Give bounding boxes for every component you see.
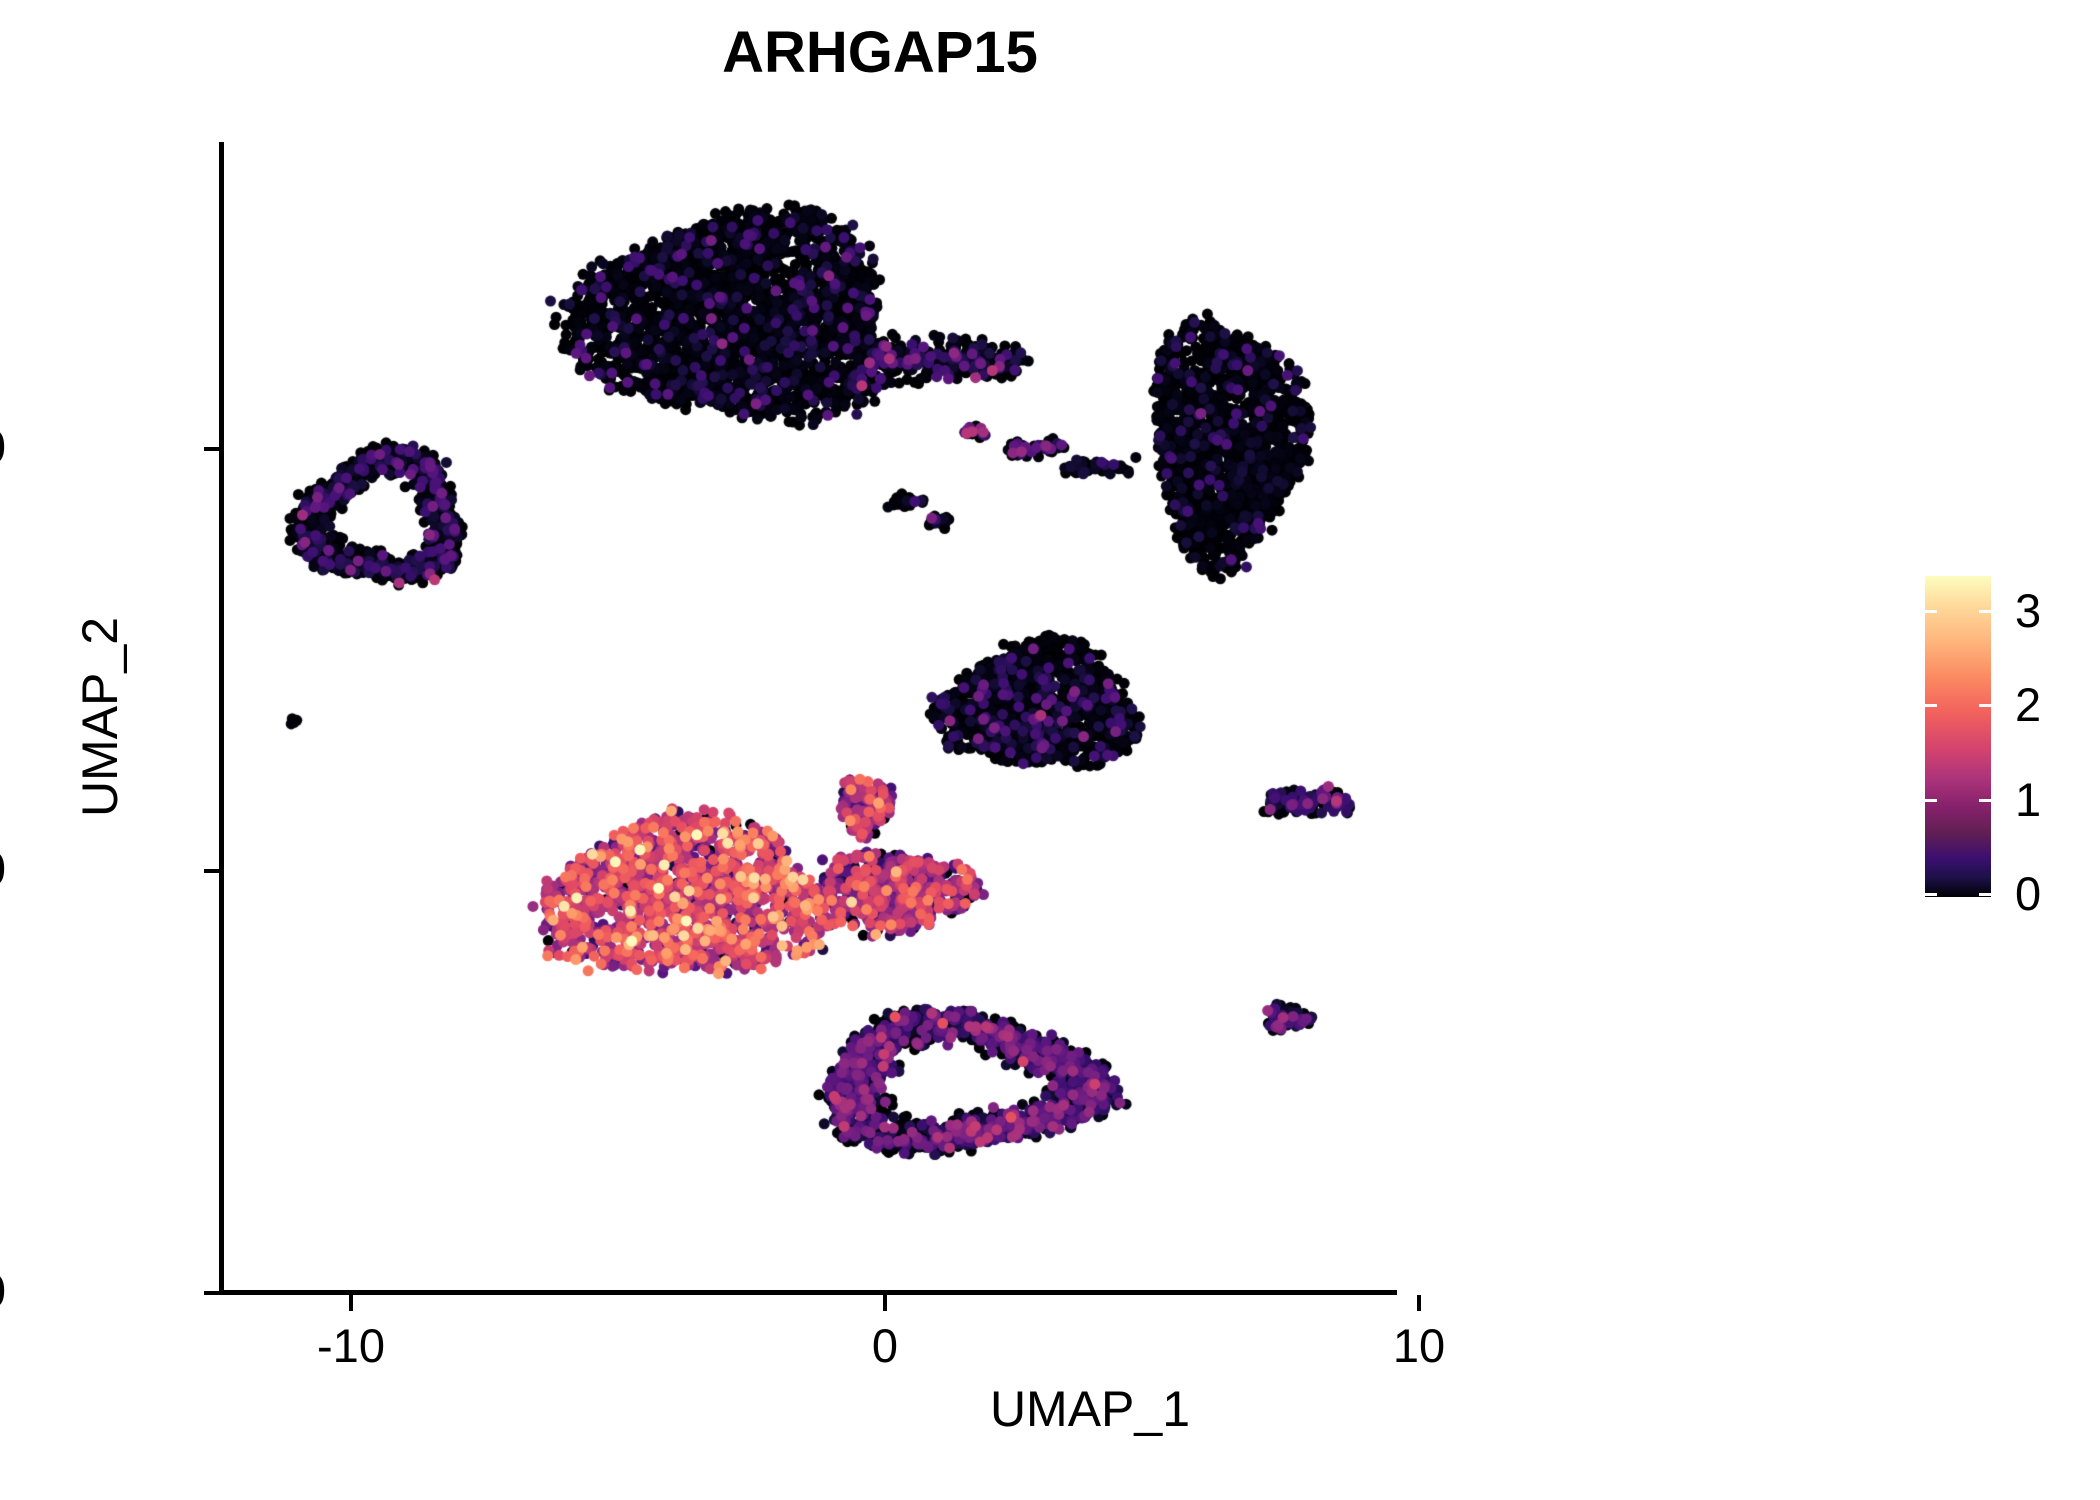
scatter-points-layer [222, 142, 1397, 1292]
y-axis-line [219, 142, 224, 1295]
y-axis-title: UMAP_2 [75, 617, 125, 817]
x-tick-label-neg10: -10 [221, 1322, 481, 1369]
colorbar-tick-3-left [1925, 610, 1937, 613]
colorbar-tick-0-right [1979, 893, 1991, 896]
y-tick-mark-neg10 [204, 1291, 220, 1295]
colorbar-tick-3-right [1979, 610, 1991, 613]
x-axis-line [219, 1290, 1397, 1295]
x-tick-label-10: 10 [1289, 1322, 1549, 1369]
x-tick-mark-neg10 [349, 1295, 353, 1311]
y-axis-title-wrap: UMAP_2 [70, 317, 130, 1117]
colorbar-tick-2-left [1925, 704, 1937, 707]
colorbar-label-3: 3 [2015, 587, 2095, 634]
y-tick-label-neg10: -10 [0, 1267, 6, 1314]
y-tick-mark-10 [204, 447, 220, 451]
colorbar-tick-2-right [1979, 704, 1991, 707]
colorbar-gradient [1925, 576, 1991, 897]
y-tick-label-0: 0 [0, 845, 6, 892]
colorbar-tick-0-left [1925, 893, 1937, 896]
y-tick-label-10: 10 [0, 423, 6, 470]
umap-feature-plot: ARHGAP15 10 0 -10 -10 0 10 UMAP_1 UMAP_2… [0, 0, 2100, 1500]
x-axis-title: UMAP_1 [490, 1384, 1690, 1434]
x-tick-mark-10 [1417, 1295, 1421, 1311]
colorbar-legend: 3 2 1 0 [1925, 576, 2085, 901]
page-title: ARHGAP15 [0, 24, 1760, 82]
colorbar-label-0: 0 [2015, 870, 2095, 917]
colorbar-label-2: 2 [2015, 681, 2095, 728]
colorbar-tick-1-right [1979, 799, 1991, 802]
plot-panel [222, 142, 1397, 1292]
x-tick-mark-0 [883, 1295, 887, 1311]
y-tick-mark-0 [204, 869, 220, 873]
colorbar-label-1: 1 [2015, 776, 2095, 823]
colorbar-tick-1-left [1925, 799, 1937, 802]
x-tick-label-0: 0 [755, 1322, 1015, 1369]
